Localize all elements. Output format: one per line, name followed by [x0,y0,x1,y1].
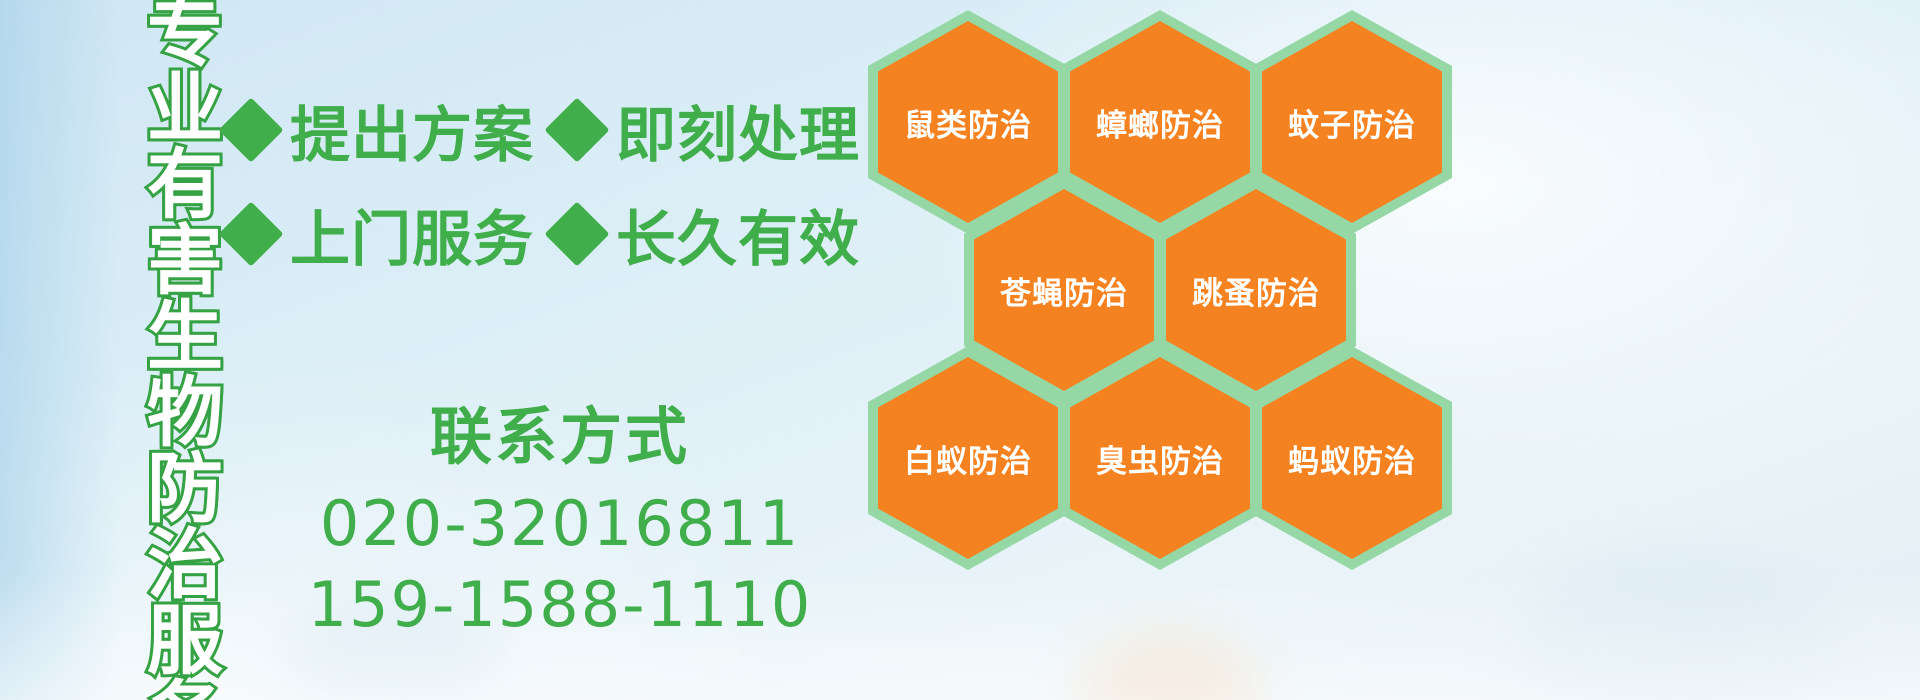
feature-item: 长久有效 [554,191,860,278]
phone-number[interactable]: 020-32016811 [230,484,890,565]
diamond-icon [218,201,283,266]
service-hexagon-label: 白蚁防治 [904,436,1032,481]
service-hexagon-fill: 臭虫防治 [1070,357,1250,559]
service-hexagon-label: 跳蚤防治 [1192,268,1320,313]
service-hexagon-fill: 鼠类防治 [878,21,1058,223]
service-hexagon-label: 蚂蚁防治 [1288,436,1416,481]
service-hexagon-label: 蚊子防治 [1288,100,1416,145]
diamond-icon [544,97,609,162]
contact-heading: 联系方式 [230,386,890,476]
service-hexagon-fill: 苍蝇防治 [974,189,1154,391]
service-hexagon-grid: 鼠类防治蟑螂防治蚊子防治苍蝇防治跳蚤防治白蚁防治臭虫防治蚂蚁防治 [858,0,1478,560]
service-hexagon-label: 臭虫防治 [1096,436,1224,481]
feature-label: 长久有效 [616,191,860,278]
service-hexagon-label: 苍蝇防治 [1000,268,1128,313]
service-hexagon-fill: 蚊子防治 [1262,21,1442,223]
pest-control-promo-banner: 专业有害生物防治服务 提出方案即刻处理上门服务长久有效 联系方式 020-320… [0,0,1920,700]
diamond-icon [218,97,283,162]
feature-item: 提出方案 [228,87,534,174]
feature-row: 上门服务长久有效 [228,182,878,286]
diamond-icon [544,201,609,266]
service-hexagon-fill: 跳蚤防治 [1166,189,1346,391]
feature-label: 提出方案 [290,87,534,174]
service-hexagon-label: 鼠类防治 [904,100,1032,145]
phone-number[interactable]: 159-1588-1110 [230,565,890,646]
service-hexagon-label: 蟑螂防治 [1096,100,1224,145]
service-hexagon-fill: 蚂蚁防治 [1262,357,1442,559]
service-hexagon-fill: 白蚁防治 [878,357,1058,559]
feature-item: 上门服务 [228,191,534,278]
feature-item: 即刻处理 [554,87,860,174]
feature-row: 提出方案即刻处理 [228,78,878,182]
feature-label: 即刻处理 [616,87,860,174]
phone-number-list: 020-32016811159-1588-1110 [230,484,890,645]
vertical-headline: 专业有害生物防治服务 [104,0,212,582]
feature-list: 提出方案即刻处理上门服务长久有效 [228,78,878,286]
contact-block: 联系方式 020-32016811159-1588-1110 [230,386,890,645]
feature-label: 上门服务 [290,191,534,278]
service-hexagon-fill: 蟑螂防治 [1070,21,1250,223]
